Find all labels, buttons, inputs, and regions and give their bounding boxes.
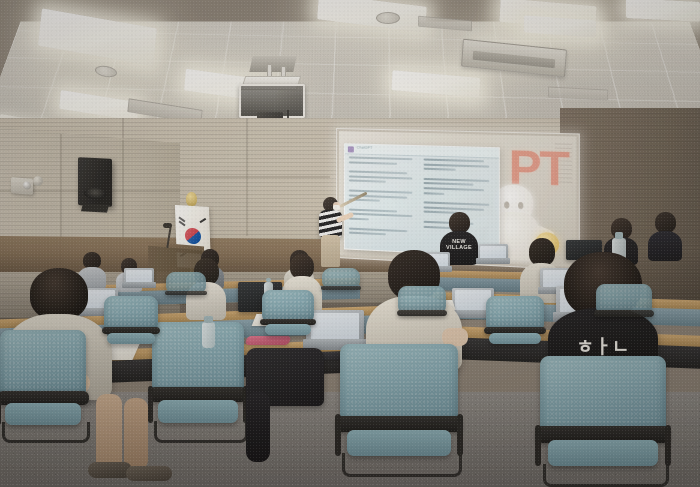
chair bbox=[596, 284, 652, 332]
student-legs bbox=[124, 398, 148, 470]
chair bbox=[0, 330, 86, 440]
speaker-bracket bbox=[81, 203, 109, 212]
mascot-eye bbox=[504, 201, 509, 208]
student-head bbox=[655, 212, 676, 233]
document-header-title: ChatGPT bbox=[357, 146, 373, 150]
water-bottle bbox=[202, 322, 215, 348]
student-head bbox=[449, 212, 470, 233]
ceiling-light bbox=[626, 0, 700, 22]
student-legs bbox=[246, 392, 270, 462]
wall-sensor-device bbox=[33, 176, 43, 186]
presenter-trousers bbox=[321, 235, 340, 267]
chair bbox=[262, 290, 314, 342]
laptop bbox=[124, 268, 154, 288]
projector-mount-plate bbox=[249, 56, 296, 72]
chair bbox=[322, 268, 360, 300]
classroom-photo: PT ChatGPT bbox=[0, 0, 700, 487]
flag-finial-icon bbox=[186, 192, 197, 206]
laptop bbox=[478, 244, 508, 264]
wall-sensor-device bbox=[11, 177, 33, 195]
student-legs bbox=[96, 394, 122, 472]
smoke-detector-icon bbox=[376, 12, 400, 24]
speaker-cone-icon bbox=[84, 187, 106, 199]
chair bbox=[540, 356, 666, 484]
student-head bbox=[30, 268, 88, 320]
shirt-print-text: ㅎㅏㄴ bbox=[562, 338, 644, 357]
chair bbox=[166, 272, 206, 306]
chair bbox=[398, 286, 446, 330]
mascot-eye bbox=[518, 202, 523, 209]
projector-cage bbox=[239, 84, 305, 118]
shoe bbox=[126, 466, 172, 481]
microphone-icon bbox=[163, 223, 172, 228]
chair bbox=[104, 296, 158, 352]
wall-speaker bbox=[78, 157, 112, 207]
chair bbox=[486, 296, 544, 352]
chair bbox=[340, 344, 458, 474]
document-column-left bbox=[349, 156, 418, 239]
ceiling-projector bbox=[237, 62, 303, 120]
app-logo-icon bbox=[348, 146, 354, 152]
presenter-striped-shirt bbox=[319, 210, 342, 237]
chair bbox=[152, 322, 244, 440]
